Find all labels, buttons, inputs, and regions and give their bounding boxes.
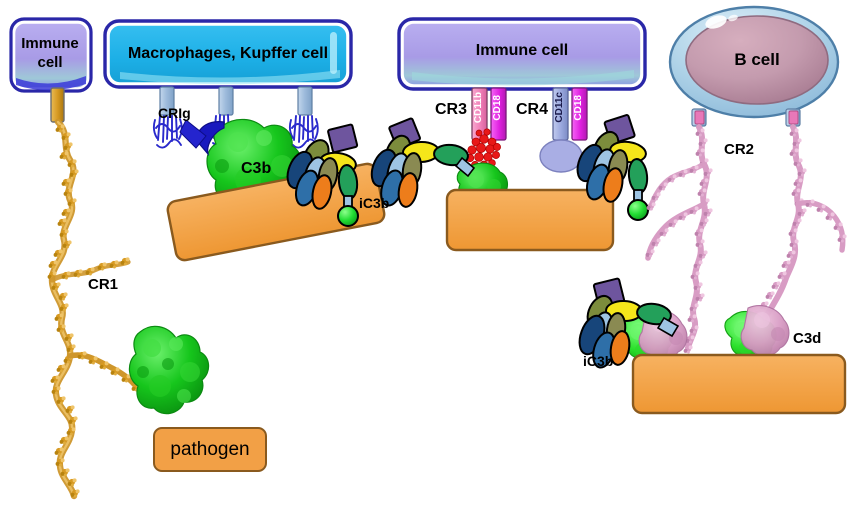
pathogen-bar-middle (447, 190, 613, 250)
c3b-molecule-lower (129, 326, 208, 413)
cr2-label: CR2 (724, 141, 754, 158)
ic3b-c3d-domain (338, 206, 358, 226)
pathogen-label-box: pathogen (153, 427, 267, 472)
cr4-label: CR4 (516, 101, 548, 119)
cr1-transmembrane-stalk (51, 88, 64, 122)
immune-cell-left-label-line2: cell (14, 53, 86, 72)
cr2-stalk-1-core (695, 111, 704, 124)
cr3-cd18-label: CD18 (492, 95, 503, 121)
immune-cell-left-label: Immune cell (14, 34, 86, 72)
cr1-ccp-chain (48, 122, 141, 498)
cr4-cd11c-label: CD11c (554, 92, 565, 123)
cr4-ligand-binding-head (540, 140, 582, 172)
c3b-label: C3b (241, 160, 271, 178)
crig-stalk-3 (298, 87, 312, 115)
cr4-cd18-label: CD18 (573, 95, 584, 121)
figure-canvas: Immune cell Macrophages, Kupffer cell Im… (0, 0, 850, 506)
c3d-label: C3d (793, 330, 821, 347)
immune-cell-left-label-line1: Immune (14, 34, 86, 53)
cr1-label: CR1 (88, 276, 118, 293)
pathogen-bar-right (633, 355, 845, 413)
cr2-stalk-2-core (789, 111, 798, 124)
ic3b-c3d-domain (628, 200, 648, 220)
macrophage-label: Macrophages, Kupffer cell (109, 45, 347, 63)
integrin-cytoplasmic-box (328, 124, 358, 152)
crig-stalk-2 (219, 87, 233, 115)
diagram-vector-layer (0, 0, 850, 506)
cr3-cd11b-label: CD11b (473, 92, 484, 123)
cr3-label: CR3 (435, 101, 467, 119)
crig-label: CRIg (158, 105, 191, 121)
ic3b-label-left: iC3b (359, 195, 389, 211)
c3d-molecule-right (725, 306, 789, 360)
immune-cell-right-label: Immune cell (403, 42, 641, 60)
b-cell-label: B cell (714, 50, 800, 70)
ic3b-label-right: iC3b (583, 353, 613, 369)
